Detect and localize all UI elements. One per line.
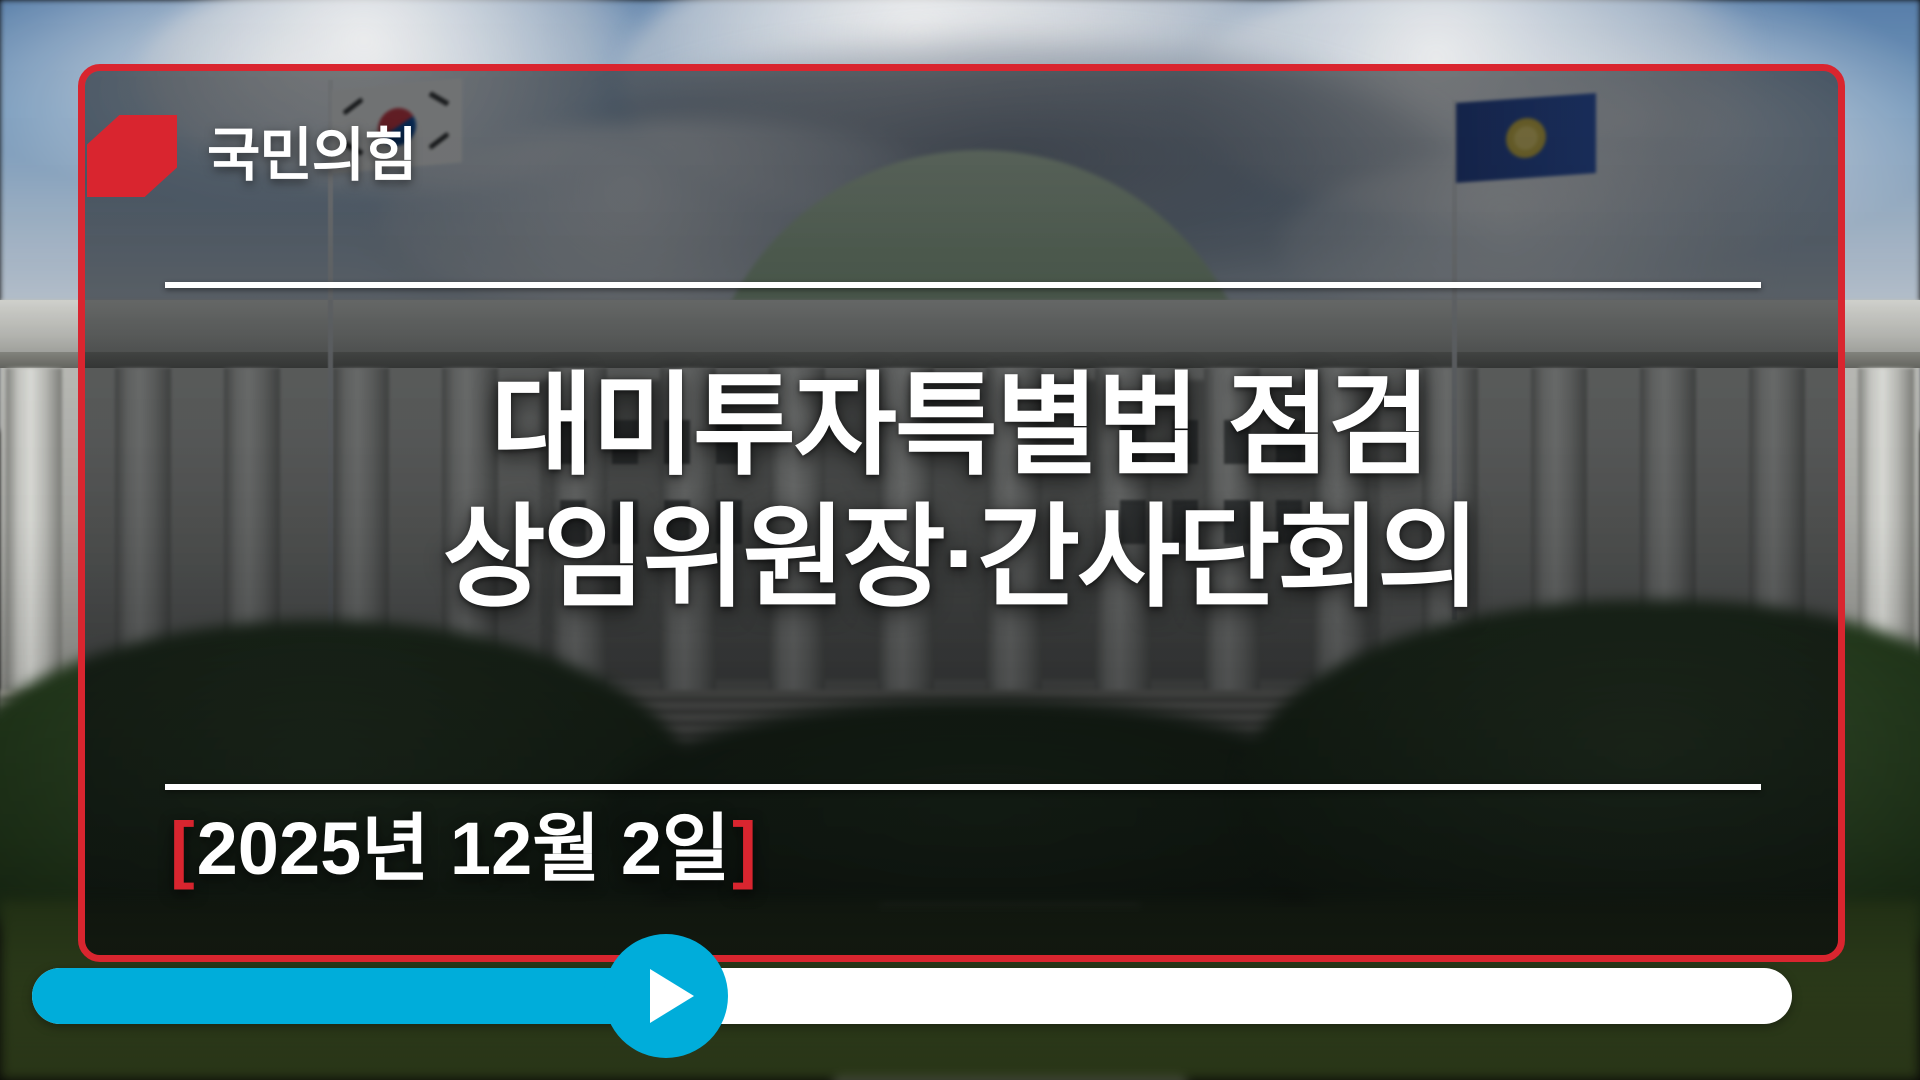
date-close-bracket: ] <box>732 812 757 886</box>
headline: 대미투자특별법 점검 상임위원장·간사단회의 <box>0 360 1920 624</box>
date-text: 2025년 12월 2일 <box>195 812 732 886</box>
headline-line-2: 상임위원장·간사단회의 <box>0 492 1920 624</box>
divider-top <box>165 282 1761 288</box>
date-open-bracket: [ <box>170 812 195 886</box>
divider-bottom <box>165 784 1761 790</box>
title-card: 국민의힘 대미투자특별법 점검 상임위원장·간사단회의 [ 2025년 12월 … <box>0 0 1920 1080</box>
date-line: [ 2025년 12월 2일 ] <box>170 812 757 886</box>
play-button[interactable] <box>604 934 728 1058</box>
video-player-controls[interactable] <box>0 962 1920 1080</box>
party-lockup: 국민의힘 <box>87 115 416 197</box>
ppp-logo-mark-icon <box>87 115 177 197</box>
party-name-label: 국민의힘 <box>207 127 416 185</box>
headline-line-1: 대미투자특별법 점검 <box>0 360 1920 492</box>
play-icon <box>650 969 694 1023</box>
